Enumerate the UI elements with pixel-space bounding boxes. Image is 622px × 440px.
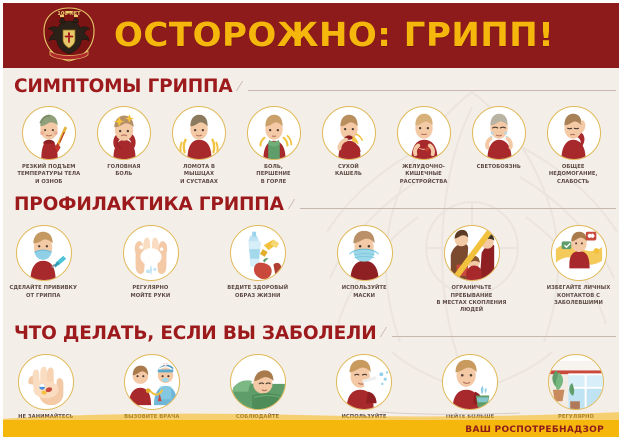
- section-prevention-header: ПРОФИЛАКТИКА ГРИППА: [0, 192, 622, 218]
- photophobia-icon: [472, 106, 526, 160]
- no-self-medication-icon: [18, 354, 74, 410]
- prevention-item-healthy-lifestyle: ВЕДИТЕ ЗДОРОВЫЙ ОБРАЗ ЖИЗНИ: [216, 225, 299, 300]
- symptom-item-weakness: ОБЩЕЕ НЕДОМОГАНИЕ, СЛАБОСТЬ: [540, 106, 608, 186]
- symptom-label: СУХОЙ КАШЕЛЬ: [335, 164, 362, 179]
- prevention-label: ВЕДИТЕ ЗДОРОВЫЙ ОБРАЗ ЖИЗНИ: [227, 285, 288, 300]
- symptom-label: ЖЕЛУДОЧНО- КИШЕЧНЫЕ РАССТРОЙСТВА: [400, 164, 448, 186]
- use-tissues-icon: [336, 354, 392, 410]
- thermometer-fever-icon: [22, 106, 76, 160]
- prevention-label: РЕГУЛЯРНО МОЙТЕ РУКИ: [131, 285, 171, 300]
- avoid-contact-icon: [551, 225, 607, 281]
- poster-body: СИМПТОМЫ ГРИППА: [0, 74, 622, 440]
- symptom-item-dry-cough: СУХОЙ КАШЕЛЬ: [315, 106, 383, 179]
- prevention-item-wash-hands: РЕГУЛЯРНО МОЙТЕ РУКИ: [109, 225, 192, 300]
- if-ill-item-call-doctor: ВЫЗОВИТЕ ВРАЧА: [110, 354, 194, 421]
- symptom-item-headache: ГОЛОВНАЯ БОЛЬ: [90, 106, 158, 179]
- symptom-item-stomach: ЖЕЛУДОЧНО- КИШЕЧНЫЕ РАССТРОЙСТВА: [390, 106, 458, 186]
- prevention-label: СДЕЛАЙТЕ ПРИВИВКУ ОТ ГРИППА: [10, 285, 77, 300]
- if-ill-item-no-self-medication: НЕ ЗАНИМАЙТЕСЬ САМОЛЕЧЕНИЕМ: [4, 354, 88, 429]
- avoid-crowds-icon: [444, 225, 500, 281]
- wash-hands-icon: [123, 225, 179, 281]
- prevention-item-vaccination: СДЕЛАЙТЕ ПРИВИВКУ ОТ ГРИППА: [2, 225, 85, 300]
- stomach-ache-icon: [397, 106, 451, 160]
- symptom-label: РЕЗКИЙ ПОДЪЕМ ТЕМПЕРАТУРЫ ТЕЛА И ОЗНОБ: [17, 164, 80, 186]
- prevention-label: ИЗБЕГАЙТЕ ЛИЧНЫХ КОНТАКТОВ С ЗАБОЛЕВШИМИ: [540, 285, 617, 307]
- muscle-joint-pain-icon: [172, 106, 226, 160]
- section-divider-rule: [239, 81, 622, 94]
- symptom-item-photophobia: СВЕТОБОЯЗНЬ: [465, 106, 533, 171]
- symptom-item-sore-throat: БОЛЬ, ПЕРШЕНИЕ В ГОРЛЕ: [240, 106, 308, 186]
- symptom-label: ОБЩЕЕ НЕДОМОГАНИЕ, СЛАБОСТЬ: [549, 164, 598, 186]
- section-if-ill-title: ЧТО ДЕЛАТЬ, ЕСЛИ ВЫ ЗАБОЛЕЛИ: [14, 321, 376, 347]
- prevention-item-avoid-contact: ИЗБЕГАЙТЕ ЛИЧНЫХ КОНТАКТОВ С ЗАБОЛЕВШИМИ: [537, 225, 620, 307]
- section-divider-rule: [291, 199, 622, 212]
- general-weakness-icon: [547, 106, 601, 160]
- drink-fluids-icon: [442, 354, 498, 410]
- if-ill-item-bed-rest: СОБЛЮДАЙТЕ ПОСТЕЛЬНЫЙ РЕЖИМ: [216, 354, 300, 429]
- symptoms-icon-row: РЕЗКИЙ ПОДЪЕМ ТЕМПЕРАТУРЫ ТЕЛА И ОЗНОБ: [0, 106, 622, 186]
- symptom-label: СВЕТОБОЯЗНЬ: [476, 164, 520, 171]
- symptom-label: БОЛЬ, ПЕРШЕНИЕ В ГОРЛЕ: [256, 164, 290, 186]
- influenza-awareness-poster: 100 ЛЕТ: [0, 0, 622, 440]
- prevention-label: ИСПОЛЬЗУЙТЕ МАСКИ: [342, 285, 387, 300]
- prevention-icon-row: СДЕЛАЙТЕ ПРИВИВКУ ОТ ГРИППА: [0, 225, 622, 315]
- face-mask-icon: [337, 225, 393, 281]
- sore-throat-icon: [247, 106, 301, 160]
- symptom-item-muscle-pain: ЛОМОТА В МЫШЦАХ И СУСТАВАХ: [165, 106, 233, 186]
- section-prevention: ПРОФИЛАКТИКА ГРИППА: [0, 192, 622, 315]
- section-divider-rule: [383, 327, 622, 340]
- prevention-item-mask: ИСПОЛЬЗУЙТЕ МАСКИ: [323, 225, 406, 300]
- poster-footer: ВАШ РОСПОТРЕБНАДЗОР: [0, 420, 622, 440]
- call-doctor-icon: [124, 354, 180, 410]
- section-symptoms-header: СИМПТОМЫ ГРИППА: [0, 74, 622, 100]
- prevention-item-avoid-crowds: ОГРАНИЧЬТЕ ПРЕБЫВАНИЕ В МЕСТАХ СКОПЛЕНИЯ…: [430, 225, 513, 315]
- headache-icon: [97, 106, 151, 160]
- vaccination-icon: [16, 225, 72, 281]
- rospotrebnadzor-eagle-emblem: 100 ЛЕТ: [38, 4, 100, 64]
- symptom-label: ЛОМОТА В МЫШЦАХ И СУСТАВАХ: [167, 164, 230, 186]
- symptom-label: ГОЛОВНАЯ БОЛЬ: [107, 164, 140, 179]
- section-if-ill-header: ЧТО ДЕЛАТЬ, ЕСЛИ ВЫ ЗАБОЛЕЛИ: [0, 321, 622, 347]
- prevention-label: ОГРАНИЧЬТЕ ПРЕБЫВАНИЕ В МЕСТАХ СКОПЛЕНИЯ…: [433, 285, 510, 315]
- section-symptoms: СИМПТОМЫ ГРИППА: [0, 74, 622, 186]
- poster-header: 100 ЛЕТ: [0, 0, 622, 68]
- section-prevention-title: ПРОФИЛАКТИКА ГРИППА: [14, 192, 284, 218]
- page-title: ОСТОРОЖНО: ГРИПП!: [114, 18, 554, 51]
- healthy-lifestyle-icon: [230, 225, 286, 281]
- ventilate-room-icon: [548, 354, 604, 410]
- dry-cough-icon: [322, 106, 376, 160]
- symptom-item-fever: РЕЗКИЙ ПОДЪЕМ ТЕМПЕРАТУРЫ ТЕЛА И ОЗНОБ: [15, 106, 83, 186]
- footer-organization-label: ВАШ РОСПОТРЕБНАДЗОР: [465, 425, 604, 435]
- bed-rest-icon: [230, 354, 286, 410]
- if-ill-item-drink-fluids: ПЕЙТЕ БОЛЬШЕ ЖИДКОСТИ: [428, 354, 512, 429]
- section-symptoms-title: СИМПТОМЫ ГРИППА: [14, 74, 232, 100]
